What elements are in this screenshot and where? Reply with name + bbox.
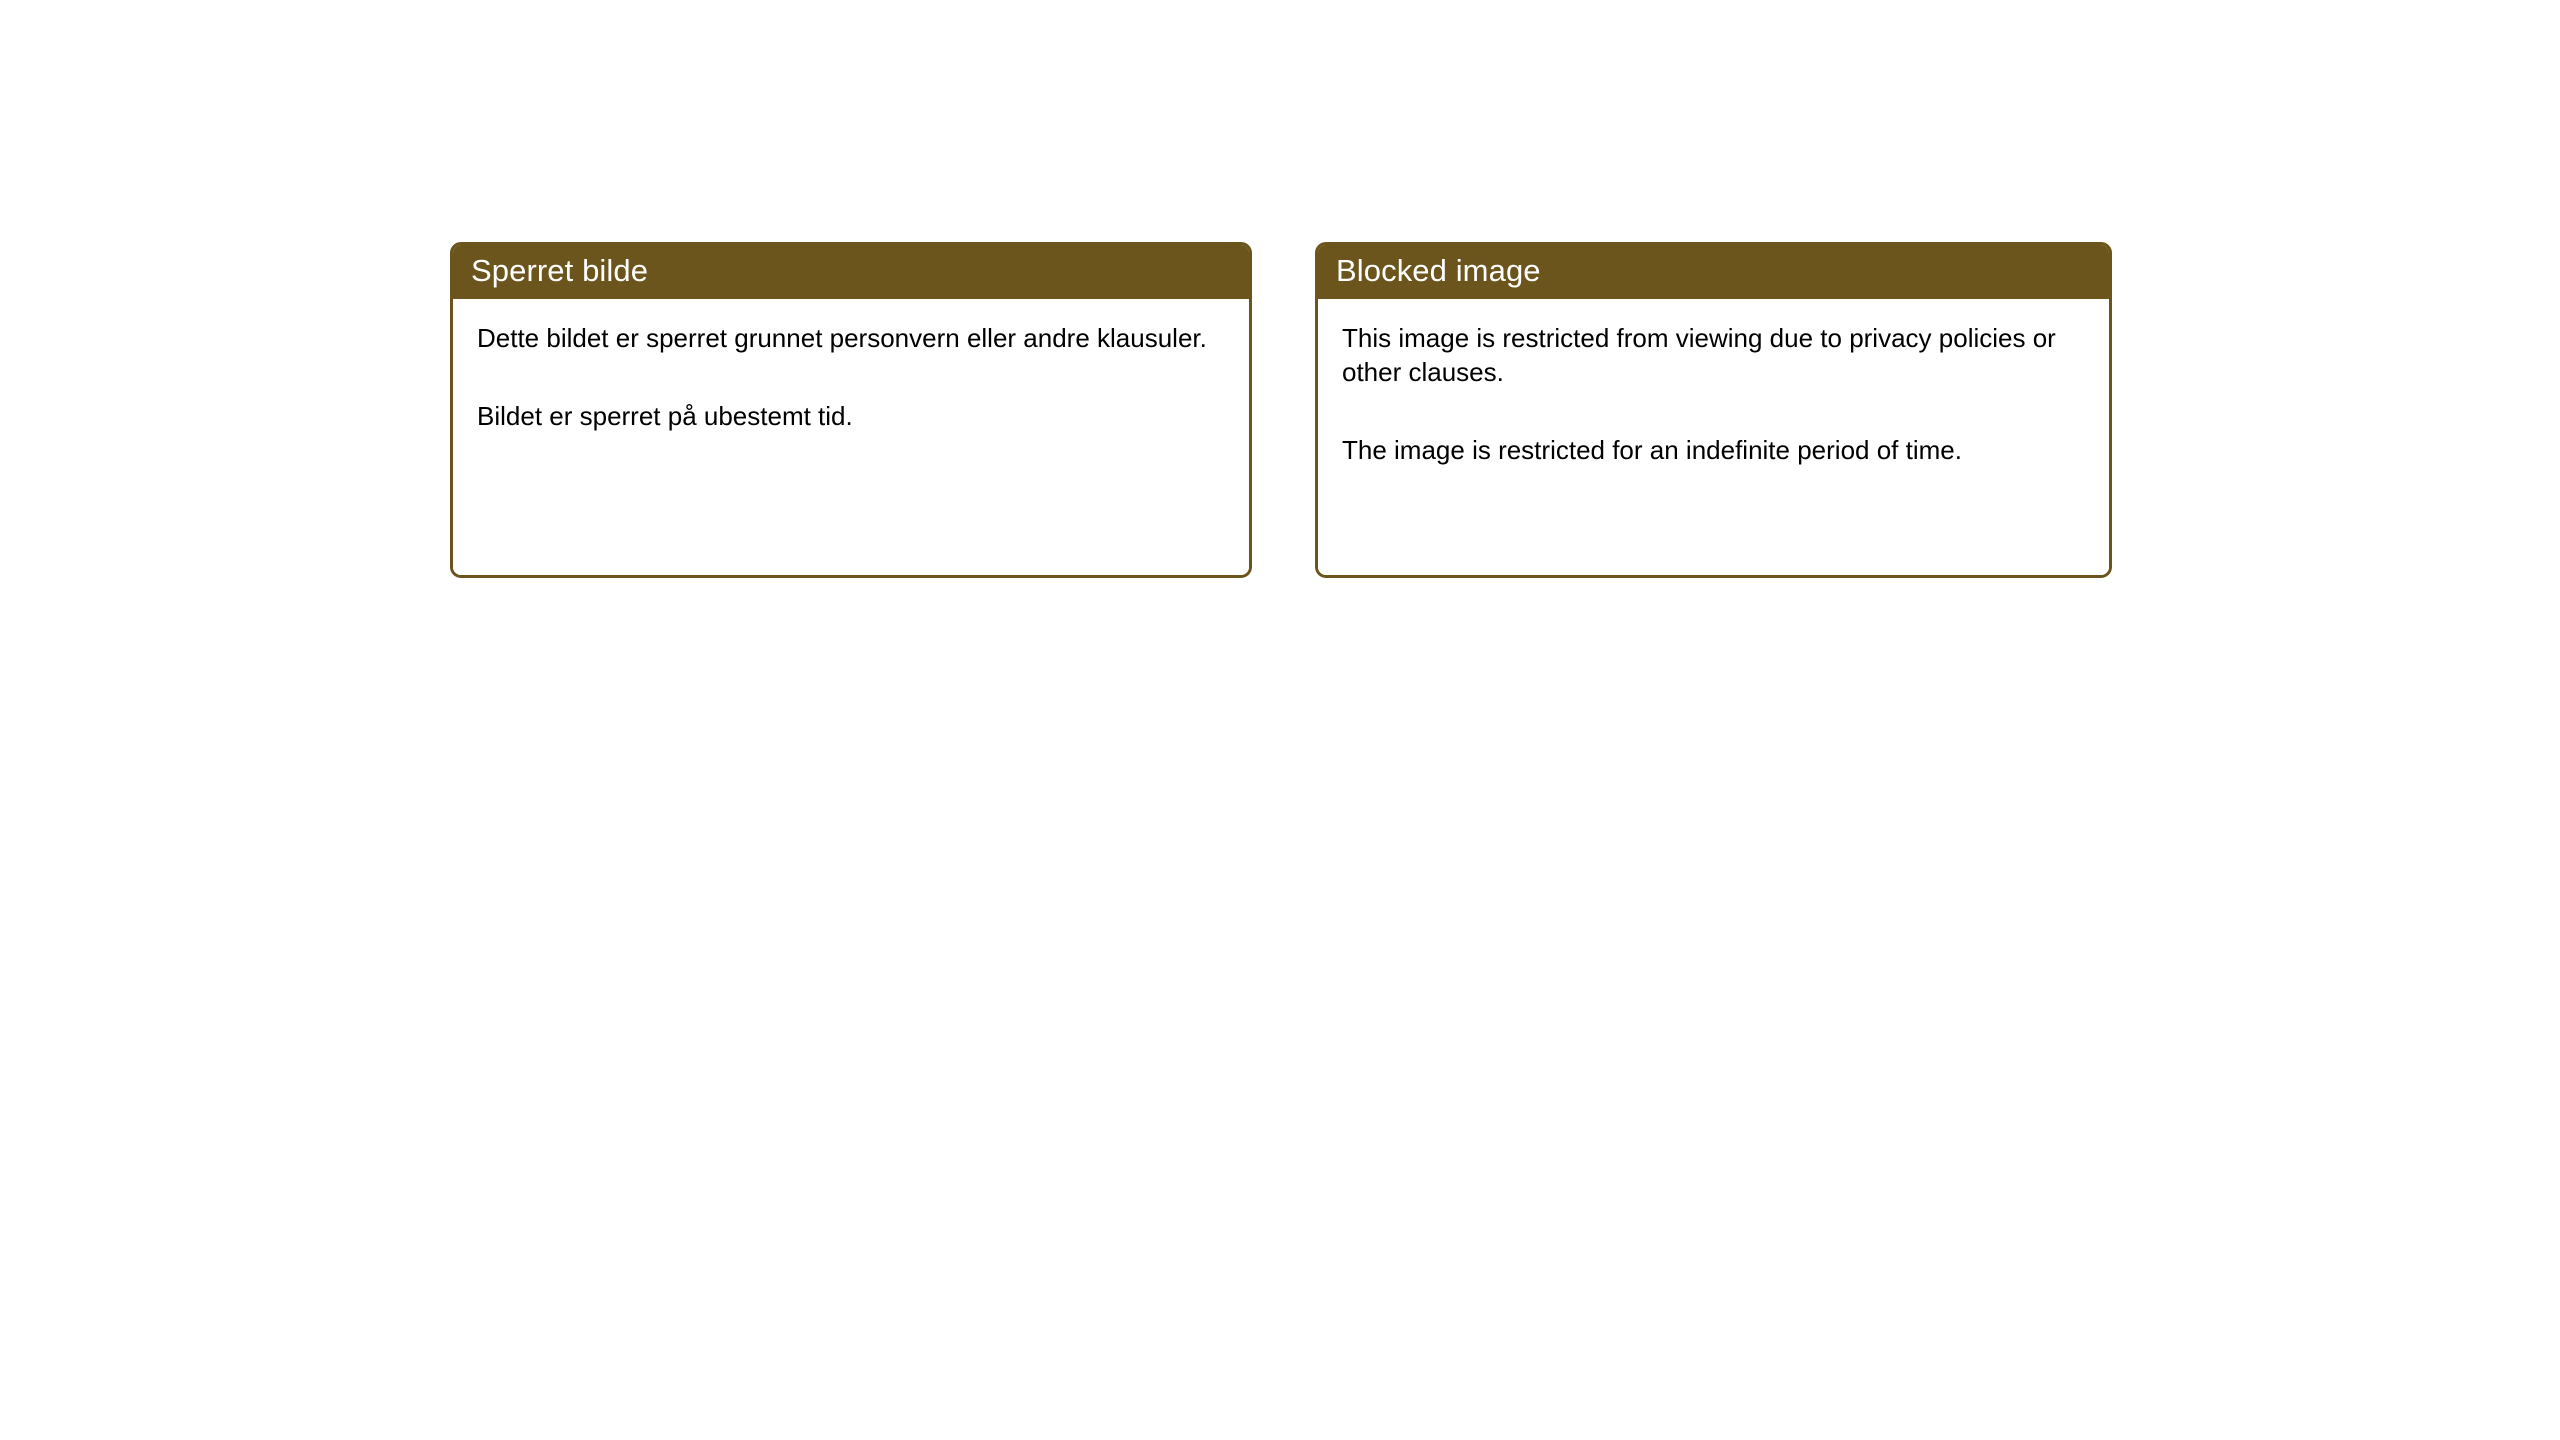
card-paragraph-duration-norwegian: Bildet er sperret på ubestemt tid. bbox=[477, 399, 1207, 433]
page-root: Sperret bilde Dette bildet er sperret gr… bbox=[0, 0, 2560, 1440]
blocked-image-notices: Sperret bilde Dette bildet er sperret gr… bbox=[450, 242, 2112, 578]
blocked-image-card-english: Blocked image This image is restricted f… bbox=[1315, 242, 2112, 578]
card-body-norwegian: Dette bildet er sperret grunnet personve… bbox=[453, 299, 1249, 575]
card-title-english: Blocked image bbox=[1336, 254, 1541, 288]
card-paragraph-reason-english: This image is restricted from viewing du… bbox=[1342, 321, 2072, 389]
card-body-spacer bbox=[1342, 467, 2085, 551]
card-header-english: Blocked image bbox=[1315, 242, 2112, 299]
card-title-norwegian: Sperret bilde bbox=[471, 254, 648, 288]
card-body-english: This image is restricted from viewing du… bbox=[1318, 299, 2109, 575]
blocked-image-card-norwegian: Sperret bilde Dette bildet er sperret gr… bbox=[450, 242, 1252, 578]
card-paragraph-duration-english: The image is restricted for an indefinit… bbox=[1342, 433, 2072, 467]
card-body-spacer bbox=[477, 433, 1225, 551]
card-header-norwegian: Sperret bilde bbox=[450, 242, 1252, 299]
card-paragraph-reason-norwegian: Dette bildet er sperret grunnet personve… bbox=[477, 321, 1207, 355]
